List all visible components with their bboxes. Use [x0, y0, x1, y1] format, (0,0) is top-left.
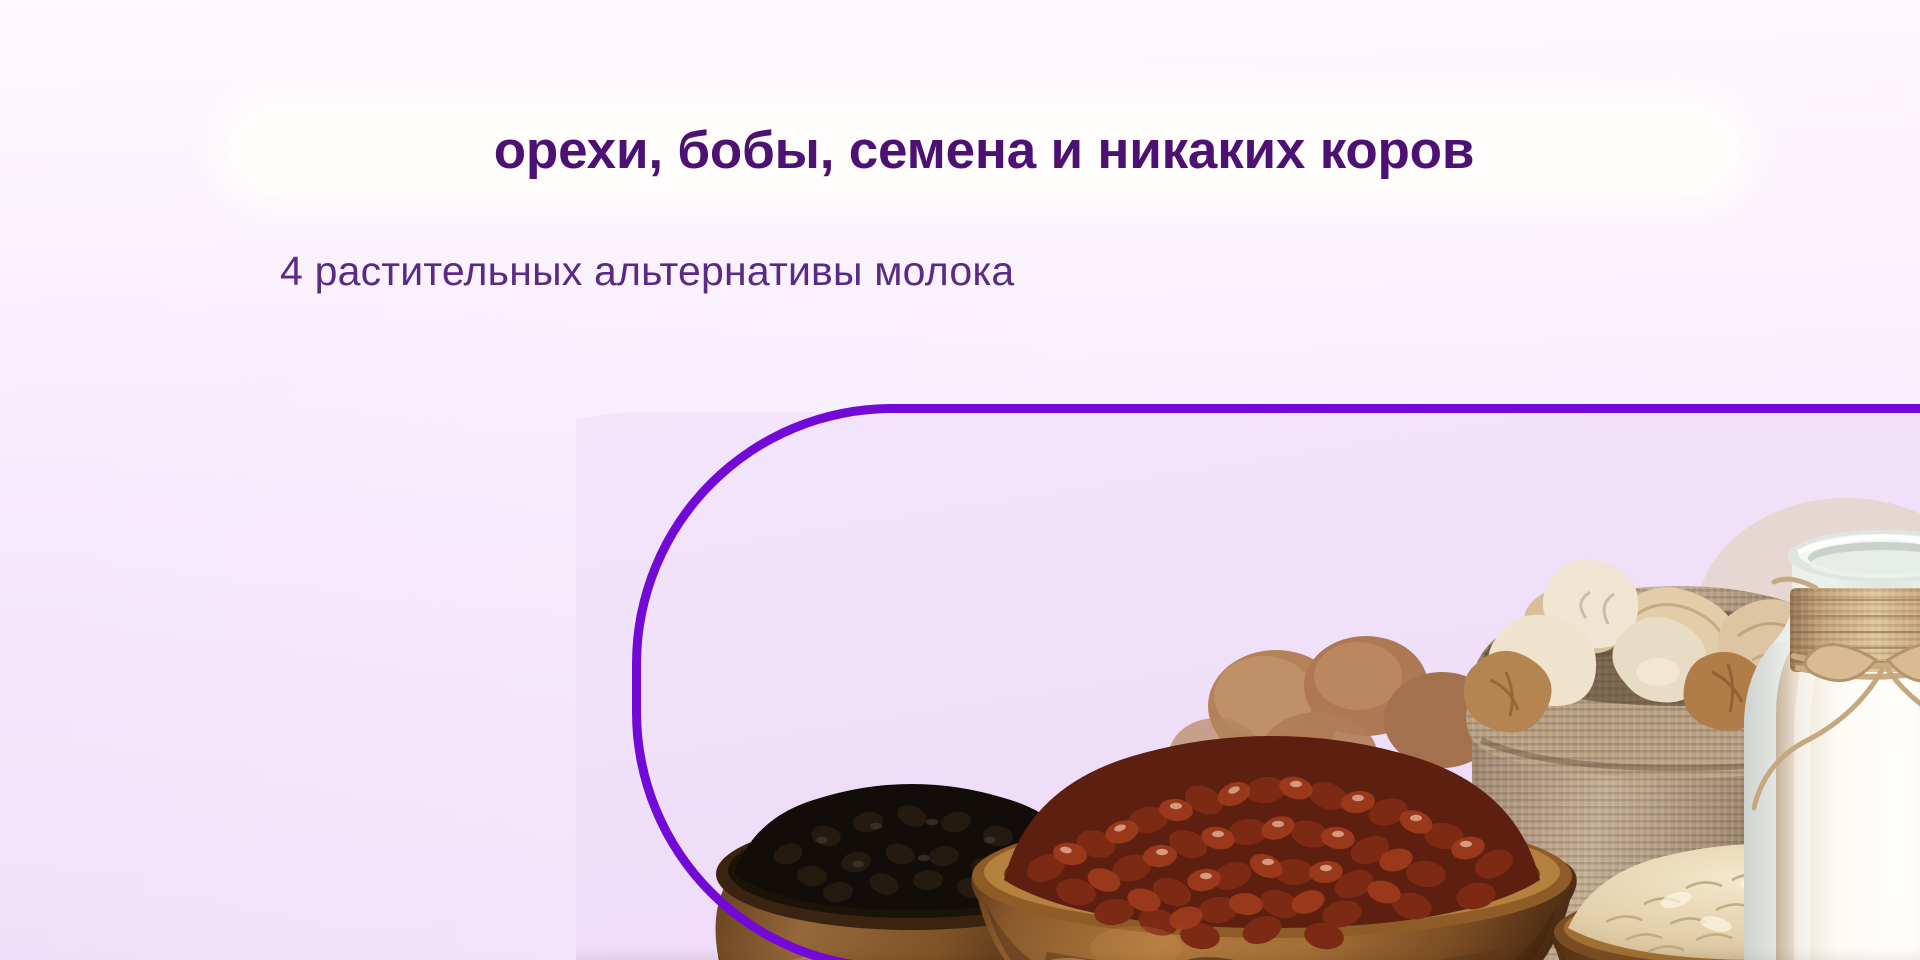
- page-subtitle: 4 растительных альтернативы молока: [280, 248, 1014, 295]
- food-photo: [636, 408, 1920, 960]
- page-title: орехи, бобы, семена и никаких коров: [228, 104, 1740, 196]
- promo-banner: орехи, бобы, семена и никаких коров 4 ра…: [0, 0, 1920, 960]
- food-photo-illustration: [576, 288, 1920, 960]
- photo-frame: [632, 404, 1920, 960]
